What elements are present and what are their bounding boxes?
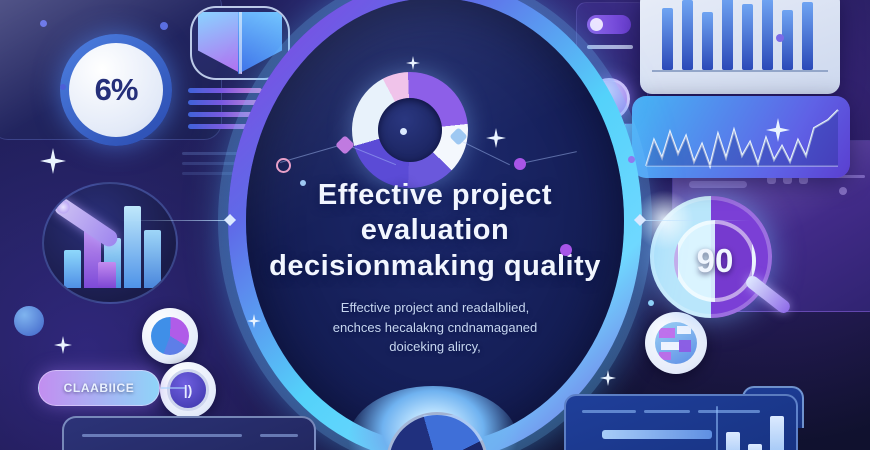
page-subtitle: Effective project and readalblied, enchc… xyxy=(272,298,598,357)
list-card xyxy=(62,416,316,450)
pill-clarice-label: CLAABIICE xyxy=(64,381,135,395)
subtitle-line-1: Effective project and readalblied, xyxy=(272,298,598,318)
percent-badge: 6% xyxy=(60,34,172,146)
connector-right xyxy=(640,220,750,221)
toggle-switch[interactable] xyxy=(587,15,631,34)
decor-dot xyxy=(648,300,654,306)
subtitle-line-2: enchces hecalakng cndnamaganed xyxy=(272,318,598,338)
pie-chart-icon xyxy=(142,308,198,364)
title-line-1: Effective project xyxy=(252,178,618,213)
mixed-chart-icon xyxy=(645,312,707,374)
sparkle-icon xyxy=(40,148,66,174)
decor-dot xyxy=(628,156,635,163)
gauge-icon-glyph: |) xyxy=(167,369,209,411)
pill-clarice[interactable]: CLAABIICE xyxy=(38,370,160,406)
score-gauge-magnifier: 90 xyxy=(650,196,772,318)
decor-dot xyxy=(60,84,66,90)
sparkle-icon xyxy=(54,336,72,354)
decor-dot xyxy=(776,34,784,42)
percent-badge-value: 6% xyxy=(95,72,138,108)
trend-line-card xyxy=(632,96,850,178)
score-gauge-value: 90 xyxy=(697,242,734,280)
decor-dot xyxy=(300,180,306,186)
bar-chart-card xyxy=(640,0,840,94)
dashboard-card xyxy=(564,394,798,450)
decor-dot xyxy=(160,22,168,30)
connector-left xyxy=(120,220,230,221)
bar-chart-icon xyxy=(42,182,178,304)
decor-dot xyxy=(40,20,47,27)
page-title: Effective project evaluation decisionmak… xyxy=(252,178,618,284)
gauge-icon: |) xyxy=(160,362,216,418)
decor-sphere xyxy=(14,306,44,336)
infographic-canvas: 6% |) LEVIENSE S xyxy=(0,0,870,450)
decor-dot xyxy=(560,244,572,256)
trend-line-chart xyxy=(632,96,850,178)
subtitle-line-3: doiceking alircy, xyxy=(272,337,598,357)
